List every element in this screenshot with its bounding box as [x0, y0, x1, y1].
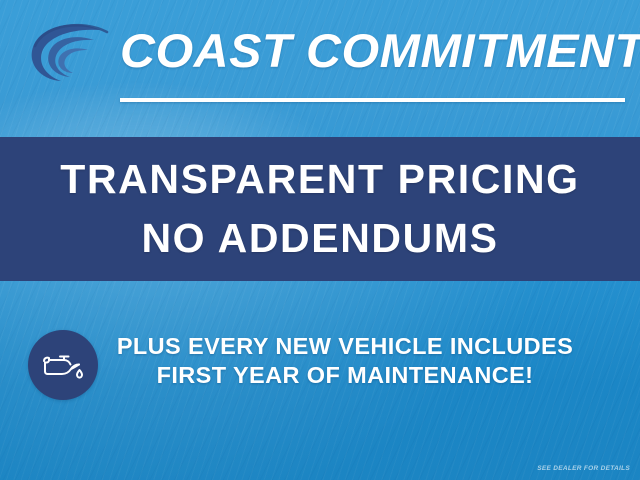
headline-line-2: NO ADDENDUMS	[141, 218, 498, 259]
page-title: COAST COMMITMENT	[120, 20, 640, 82]
coast-commitment-ad: COAST COMMITMENT TRANSPARENT PRICING NO …	[0, 0, 640, 480]
promo-line-1: PLUS EVERY NEW VEHICLE INCLUDES	[110, 332, 580, 361]
promo-section: PLUS EVERY NEW VEHICLE INCLUDES FIRST YE…	[0, 312, 640, 422]
oil-can-drip-icon	[40, 348, 86, 382]
promo-text-block: PLUS EVERY NEW VEHICLE INCLUDES FIRST YE…	[110, 332, 580, 390]
headline-line-1: TRANSPARENT PRICING	[60, 159, 579, 200]
fine-print-disclaimer: SEE DEALER FOR DETAILS	[537, 465, 630, 472]
promo-line-2: FIRST YEAR OF MAINTENANCE!	[110, 361, 580, 390]
coast-wave-swirl-logo-icon	[22, 16, 118, 94]
header: COAST COMMITMENT	[0, 0, 640, 137]
oil-can-drip-icon-badge	[28, 330, 98, 400]
header-divider	[120, 98, 625, 102]
headline-banner: TRANSPARENT PRICING NO ADDENDUMS	[0, 137, 640, 281]
